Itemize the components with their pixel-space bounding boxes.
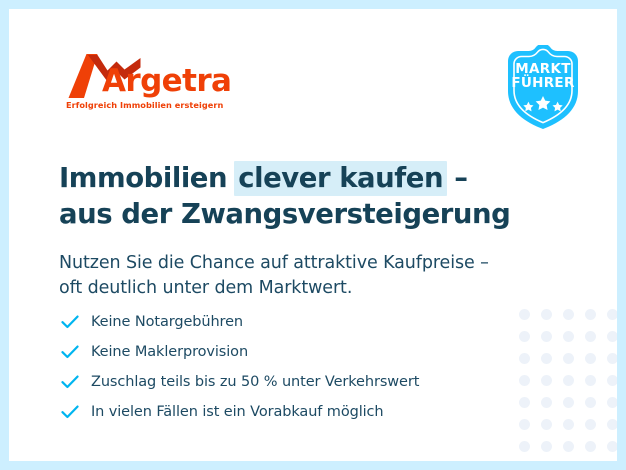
dot [607, 353, 617, 364]
dot [607, 441, 617, 452]
headline-line-2: aus der Zwangsversteigerung [59, 198, 510, 230]
logo-tagline: Erfolgreich Immobilien ersteigern [66, 100, 223, 110]
dot [607, 419, 617, 430]
dot [563, 419, 574, 430]
check-icon [61, 342, 91, 362]
dot [585, 375, 596, 386]
dot-grid-pattern [519, 309, 617, 449]
dot [541, 309, 552, 320]
benefits-list: Keine Notargebühren Keine Maklerprovisio… [61, 307, 531, 427]
check-icon [61, 372, 91, 392]
dot [541, 441, 552, 452]
dot [607, 375, 617, 386]
dot [585, 397, 596, 408]
dot [563, 441, 574, 452]
subheading-line-1: Nutzen Sie die Chance auf attraktive Kau… [59, 253, 489, 273]
subheading-line-2: oft deutlich unter dem Marktwert. [59, 278, 352, 298]
list-item: Zuschlag teils bis zu 50 % unter Verkehr… [61, 367, 531, 397]
dot [541, 397, 552, 408]
dot [541, 353, 552, 364]
dot [585, 353, 596, 364]
dot [541, 419, 552, 430]
list-item-label: Keine Notargebühren [91, 314, 243, 330]
headline-highlight: clever kaufen [234, 161, 447, 196]
market-leader-badge: MARKT FÜHRER [498, 45, 588, 131]
dot [541, 375, 552, 386]
list-item: Keine Notargebühren [61, 307, 531, 337]
dot [563, 353, 574, 364]
list-item-label: Keine Maklerprovision [91, 344, 248, 360]
dot [563, 309, 574, 320]
shield-badge-icon [498, 45, 588, 131]
headline-part-1: Immobilien [59, 162, 236, 194]
page-title: Immobilien clever kaufen – aus der Zwang… [59, 161, 579, 231]
dot [519, 441, 530, 452]
check-icon [61, 402, 91, 422]
dot [585, 331, 596, 342]
list-item: In vielen Fällen ist ein Vorabkauf mögli… [61, 397, 531, 427]
list-item: Keine Maklerprovision [61, 337, 531, 367]
dot [541, 331, 552, 342]
promo-card: Argetra Erfolgreich Immobilien ersteiger… [9, 9, 617, 461]
dot [585, 309, 596, 320]
dot [563, 397, 574, 408]
list-item-label: Zuschlag teils bis zu 50 % unter Verkehr… [91, 374, 419, 390]
headline-part-2: – [445, 162, 467, 194]
dot [585, 441, 596, 452]
list-item-label: In vielen Fällen ist ein Vorabkauf mögli… [91, 404, 384, 420]
argetra-logo[interactable]: Argetra Erfolgreich Immobilien ersteiger… [66, 52, 211, 114]
dot [585, 419, 596, 430]
dot [563, 375, 574, 386]
subheading: Nutzen Sie die Chance auf attraktive Kau… [59, 251, 579, 303]
dot [607, 331, 617, 342]
dot [563, 331, 574, 342]
logo-wordmark: Argetra [102, 66, 231, 97]
dot [607, 397, 617, 408]
check-icon [61, 312, 91, 332]
dot [607, 309, 617, 320]
